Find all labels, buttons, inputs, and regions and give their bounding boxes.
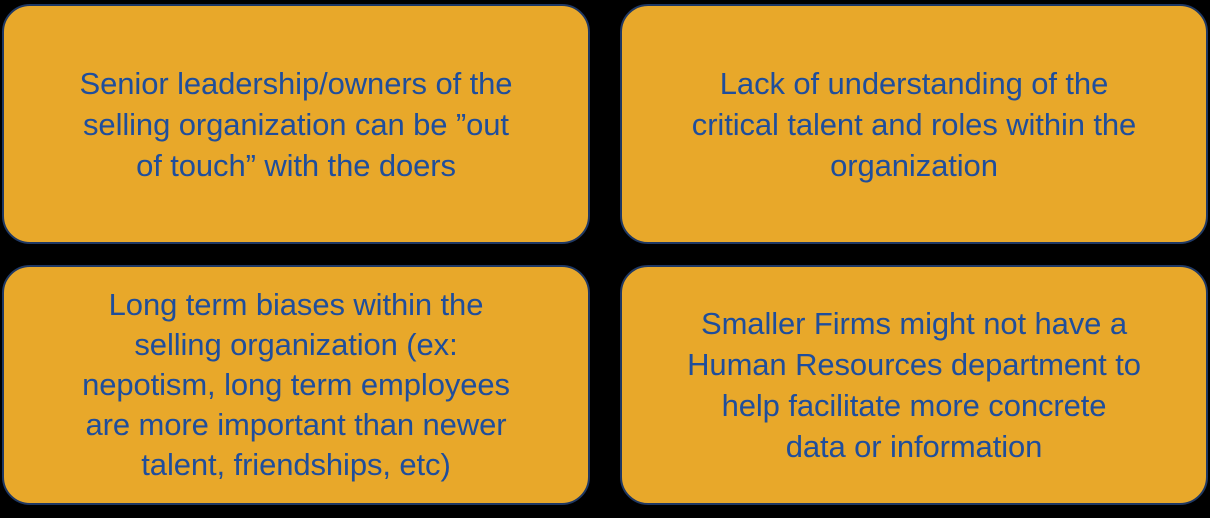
slide-canvas: Senior leadership/owners of the selling … <box>0 0 1210 518</box>
callout-card-top-left[interactable]: Senior leadership/owners of the selling … <box>2 4 590 244</box>
callout-card-text: Long term biases within the selling orga… <box>18 285 574 485</box>
callout-card-text: Lack of understanding of the critical ta… <box>636 63 1192 186</box>
callout-card-text: Smaller Firms might not have a Human Res… <box>636 303 1192 467</box>
callout-card-top-right[interactable]: Lack of understanding of the critical ta… <box>620 4 1208 244</box>
callout-card-bottom-left[interactable]: Long term biases within the selling orga… <box>2 265 590 505</box>
callout-card-text: Senior leadership/owners of the selling … <box>18 63 574 186</box>
callout-card-bottom-right[interactable]: Smaller Firms might not have a Human Res… <box>620 265 1208 505</box>
